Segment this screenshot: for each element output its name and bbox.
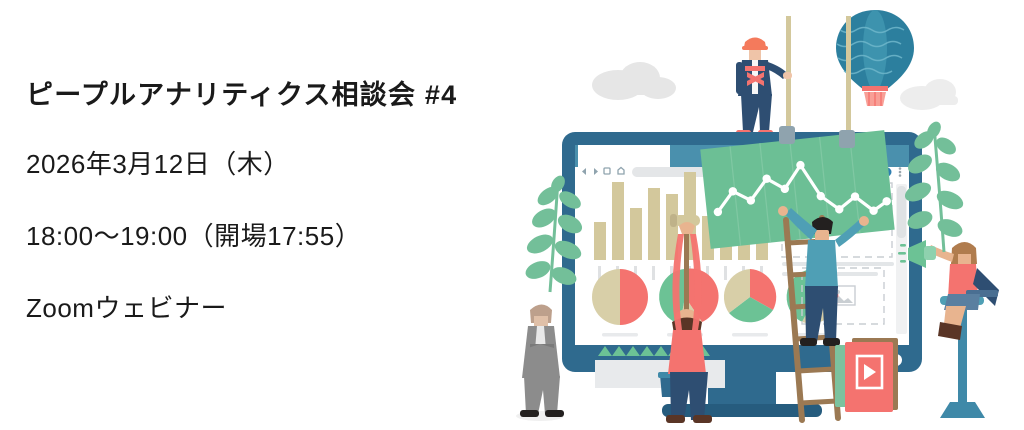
event-banner: ピープルアナリティクス相談会 #4 2026年3月12日（木） 18:00～19… [0,0,1024,430]
event-text-block: ピープルアナリティクス相談会 #4 2026年3月12日（木） 18:00～19… [26,82,546,321]
people-analytics-dashboard-illustration [490,0,1024,430]
stool-base [940,402,985,418]
cloud-right [900,79,958,110]
pie-chart-1 [592,269,648,325]
event-time: 18:00～19:00（開場17:55） [26,223,546,249]
cloud-left [592,62,676,100]
event-date: 2026年3月12日（木） [26,151,546,177]
menu-dots-icon [899,167,902,177]
man-in-suit [516,305,564,422]
event-venue: Zoomウェビナー [26,295,546,321]
scrollbar-thumb[interactable] [897,186,906,238]
page-title: ピープルアナリティクス相談会 #4 [26,82,546,109]
worker-on-monitor [736,38,792,137]
green-banner-chart [700,130,894,249]
book-play-icon [835,338,898,412]
